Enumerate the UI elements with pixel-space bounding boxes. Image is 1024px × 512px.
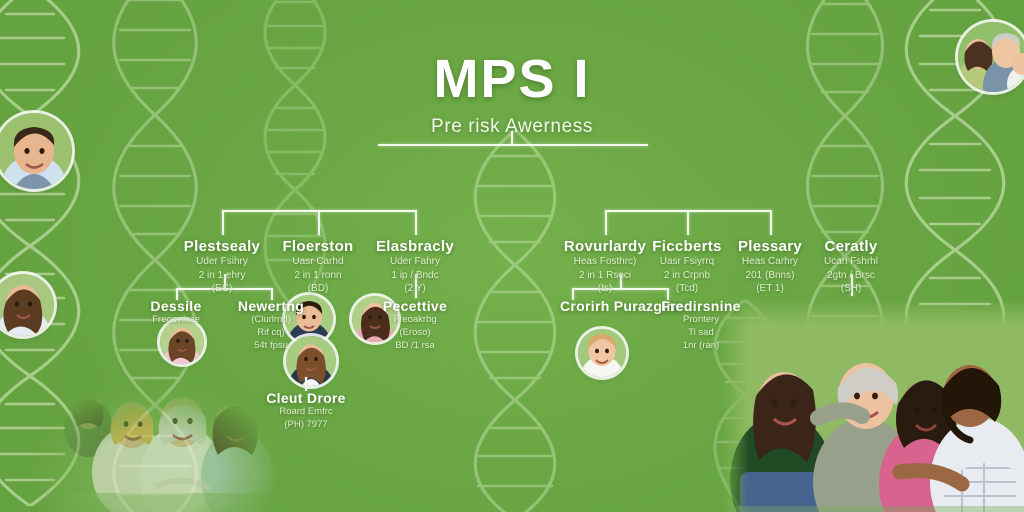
connector-left-branch-2 [318,210,320,235]
connector-sub-left-branch-2 [271,288,273,300]
connector-sub-left-stem [224,274,226,288]
node-left-2-name: Floerston [248,238,388,255]
avatar-boy-tree-e [578,329,626,377]
node-right-2: Ficcberts Uasr Fsiyrrq 2 in Crpnb (Tcd) [617,238,757,296]
node-left-3-name: Elasbracly [345,238,485,255]
connector-right-branch-4 [851,274,853,296]
node-right-4-name: Ceratly [781,238,921,255]
avatar-woman-tree-a [160,320,204,364]
title-block: MPS I Pre risk Awerness [0,52,1024,138]
connector-sub-cleut-stem [305,377,307,391]
node-right-3-line1: Heas Carhry [700,255,840,269]
node-sub-crorirh-name: Crorirh Purazgine [560,298,680,314]
connector-left-branch-1 [222,210,224,235]
photo-women-group-bottom-left [30,367,280,512]
node-left-3-line1: Uder Fahry [345,255,485,269]
connector-right-branch-1 [605,210,607,235]
connector-sub-rr-bar [572,288,668,290]
node-right-1: Rovurlardy Heas Fosthrc) 2 in 1 Rsoci (t… [535,238,675,296]
avatar-woman-tree-d [352,296,398,342]
poster-canvas: MPS I Pre risk Awerness Plestsealy Uder … [0,0,1024,512]
page-title: MPS I [0,52,1024,107]
node-left-2-line2: 2 in 1 ronn [248,269,388,283]
connector-right-branch-2 [687,210,689,235]
node-right-1-line1: Heas Fosthrc) [535,255,675,269]
dna-helix-center [460,130,570,512]
node-right-3-line2: 201 (Bnns) [700,269,840,283]
node-left-1-name: Plestsealy [152,238,292,255]
node-right-2-line1: Uasr Fsiyrrq [617,255,757,269]
connector-sub-left-branch-1 [176,288,178,300]
connector-sub-left-bar [176,288,272,290]
connector-root-bar [378,144,648,146]
node-right-2-name: Ficcberts [617,238,757,255]
connector-root-stem [511,131,513,145]
connector-sub-mid-stem [415,274,417,298]
node-left-2-line1: Uasr Carhd [248,255,388,269]
avatar-woman-left-mid [0,274,54,336]
avatar-woman-tree-c [286,336,336,386]
avatar-family-top-right [958,22,1024,92]
node-right-3-name: Plessary [700,238,840,255]
node-right-3: Plessary Heas Carhry 201 (Bnns) (ET 1) [700,238,840,296]
photo-family-bottom-right [722,300,1024,512]
node-right-1-name: Rovurlardy [535,238,675,255]
dna-helix-left-thin [250,0,340,310]
node-right-4-line1: Ucan Fshrhl [781,255,921,269]
node-left-2: Floerston Uasr Carhd 2 in 1 ronn (BD) [248,238,388,296]
node-right-1-line2: 2 in 1 Rsoci [535,269,675,283]
node-sub-dessile-name: Dessile [116,298,236,314]
node-sub-crorirh: Crorirh Purazgine [560,298,680,314]
node-left-1: Plestsealy Uder Fsihry 2 in 1 ehry (EC) [152,238,292,296]
connector-sub-rr-branch-2 [667,288,669,300]
connector-sub-rr-branch-1 [572,288,574,300]
avatar-man-left-top [0,113,72,189]
connector-left-branch-3 [415,210,417,235]
node-left-1-line2: 2 in 1 ehry [152,269,292,283]
connector-sub-rr-stem [620,274,622,288]
connector-right-branch-3 [770,210,772,235]
node-right-3-line3: (ET 1) [700,282,840,296]
node-right-2-line2: 2 in Crpnb [617,269,757,283]
node-left-1-line1: Uder Fsihry [152,255,292,269]
